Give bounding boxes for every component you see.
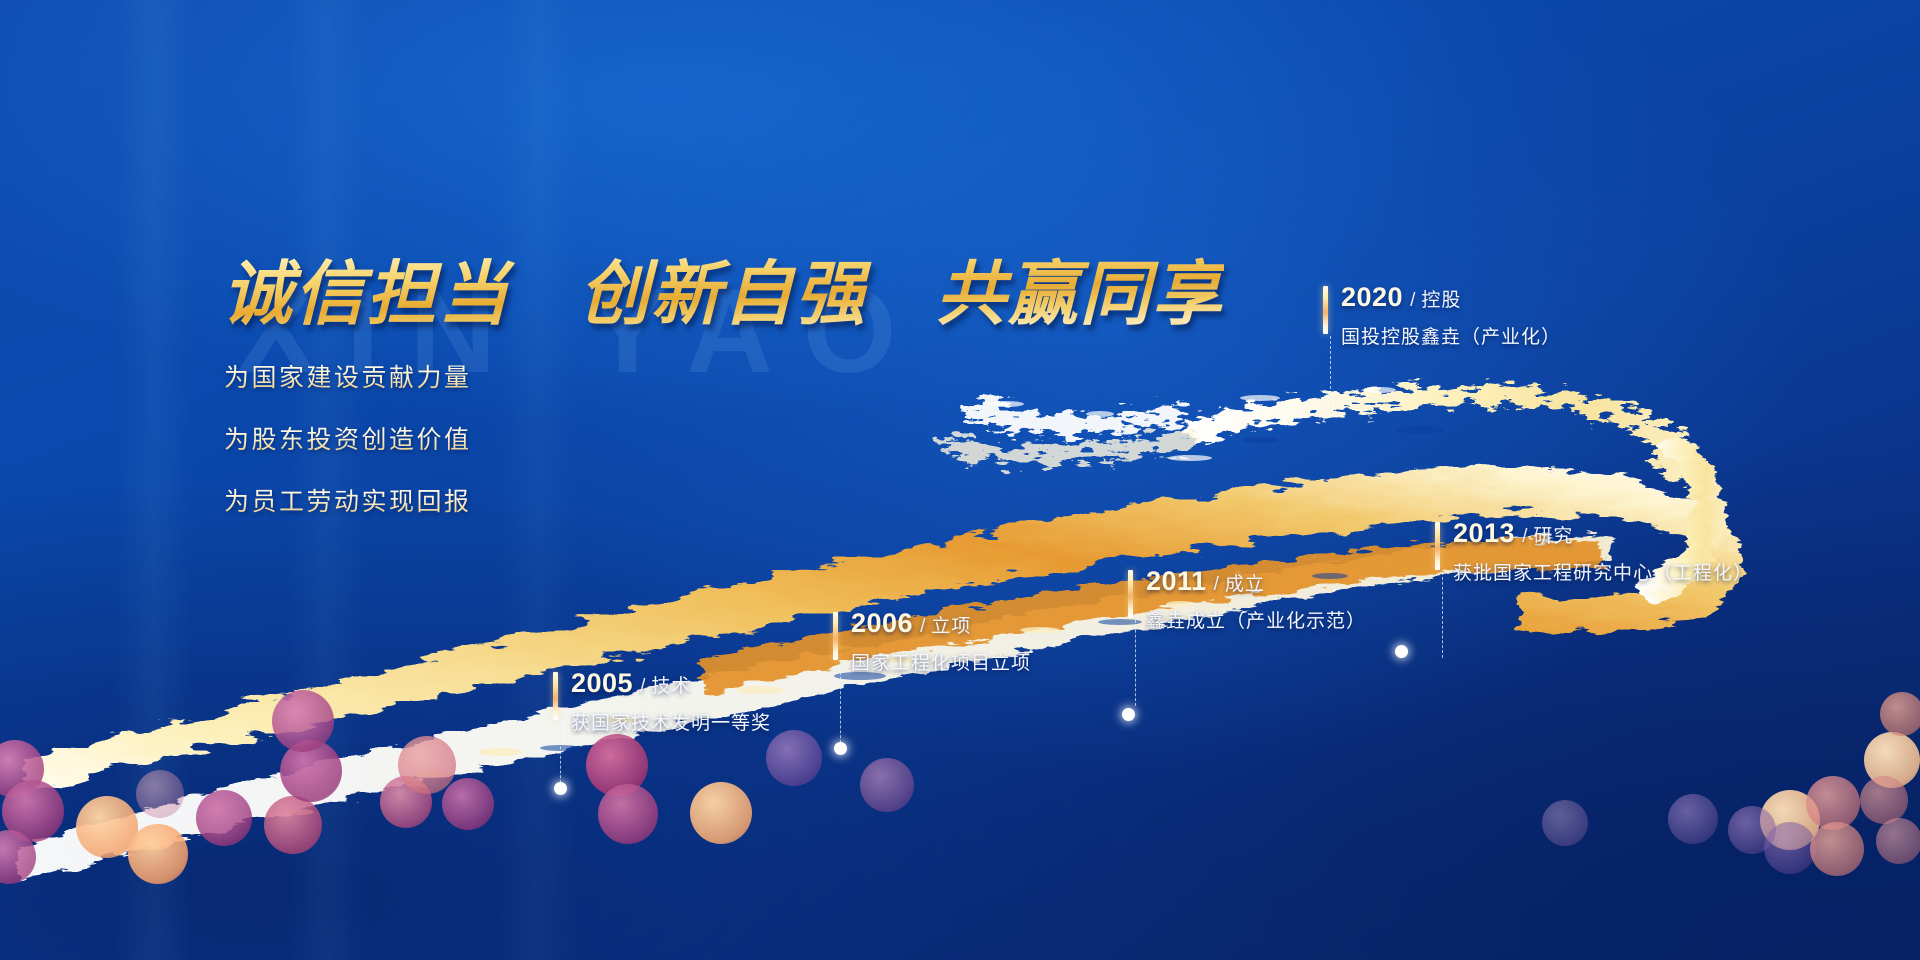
milestone-kind: 控股 — [1421, 290, 1461, 311]
brush-stroke-ribbon — [0, 0, 1920, 960]
milestone-description: 获批国家工程研究中心（工程化） — [1453, 558, 1753, 585]
milestone-2005[interactable]: 2005/技术 获国家技术发明一等奖 — [553, 670, 771, 735]
milestone-description: 获国家技术发明一等奖 — [571, 708, 771, 735]
subtitle-line-3: 为员工劳动实现回报 — [224, 482, 472, 518]
subtitle-line-2: 为股东投资创造价值 — [224, 420, 472, 456]
milestone-dot-2013 — [1395, 645, 1408, 658]
milestone-2006[interactable]: 2006/立项 国家工程化项目立项 — [833, 610, 1031, 675]
milestone-year: 2005 — [571, 668, 633, 698]
milestone-dot-2006 — [834, 742, 847, 755]
milestone-separator: / — [1410, 290, 1415, 311]
milestone-2011[interactable]: 2011/成立 鑫垚成立（产业化示范） — [1128, 568, 1366, 633]
milestone-marker-bar — [833, 612, 838, 660]
milestone-year: 2006 — [851, 608, 913, 638]
milestone-separator: / — [1214, 574, 1219, 595]
milestone-description: 国家工程化项目立项 — [851, 648, 1031, 675]
milestone-year: 2013 — [1453, 518, 1515, 548]
milestone-dot-2005 — [554, 782, 567, 795]
milestone-description: 鑫垚成立（产业化示范） — [1146, 606, 1366, 633]
milestone-separator: / — [640, 676, 645, 697]
milestone-kind: 成立 — [1225, 574, 1265, 595]
milestone-separator: / — [920, 616, 925, 637]
milestone-kind: 立项 — [931, 616, 971, 637]
milestone-year: 2011 — [1146, 566, 1207, 596]
milestone-dot-2011 — [1122, 708, 1135, 721]
milestone-kind: 研究 — [1533, 526, 1573, 547]
light-streaks-decoration — [0, 0, 1920, 960]
headline-phrase-1: 诚信担当 — [222, 255, 510, 333]
milestone-separator: / — [1522, 526, 1527, 547]
subtitle-line-1: 为国家建设贡献力量 — [224, 358, 472, 394]
milestone-heading: 2013/研究 — [1453, 520, 1753, 547]
milestone-2013[interactable]: 2013/研究 获批国家工程研究中心（工程化） — [1435, 520, 1753, 585]
milestone-description: 国投控股鑫垚（产业化） — [1341, 322, 1561, 349]
headline-phrase-3: 共赢同享 — [936, 255, 1224, 333]
milestone-marker-bar — [553, 672, 558, 720]
milestone-heading: 2011/成立 — [1146, 568, 1366, 595]
milestone-marker-bar — [1128, 570, 1133, 618]
banner-stage: XIN YAO 诚信担当 创新自强 共赢同享 为国家建设贡献力量 为股东投资创造… — [0, 0, 1920, 960]
headline-phrase-2: 创新自强 — [579, 255, 867, 333]
milestone-marker-bar — [1323, 286, 1328, 334]
milestone-2020[interactable]: 2020/控股 国投控股鑫垚（产业化） — [1323, 284, 1561, 349]
milestone-marker-bar — [1435, 522, 1440, 570]
milestone-heading: 2006/立项 — [851, 610, 1031, 637]
milestone-heading: 2005/技术 — [571, 670, 771, 697]
milestone-heading: 2020/控股 — [1341, 284, 1561, 311]
milestone-year: 2020 — [1341, 282, 1403, 312]
milestone-kind: 技术 — [651, 676, 691, 697]
page-title: 诚信担当 创新自强 共赢同享 — [222, 238, 1224, 339]
